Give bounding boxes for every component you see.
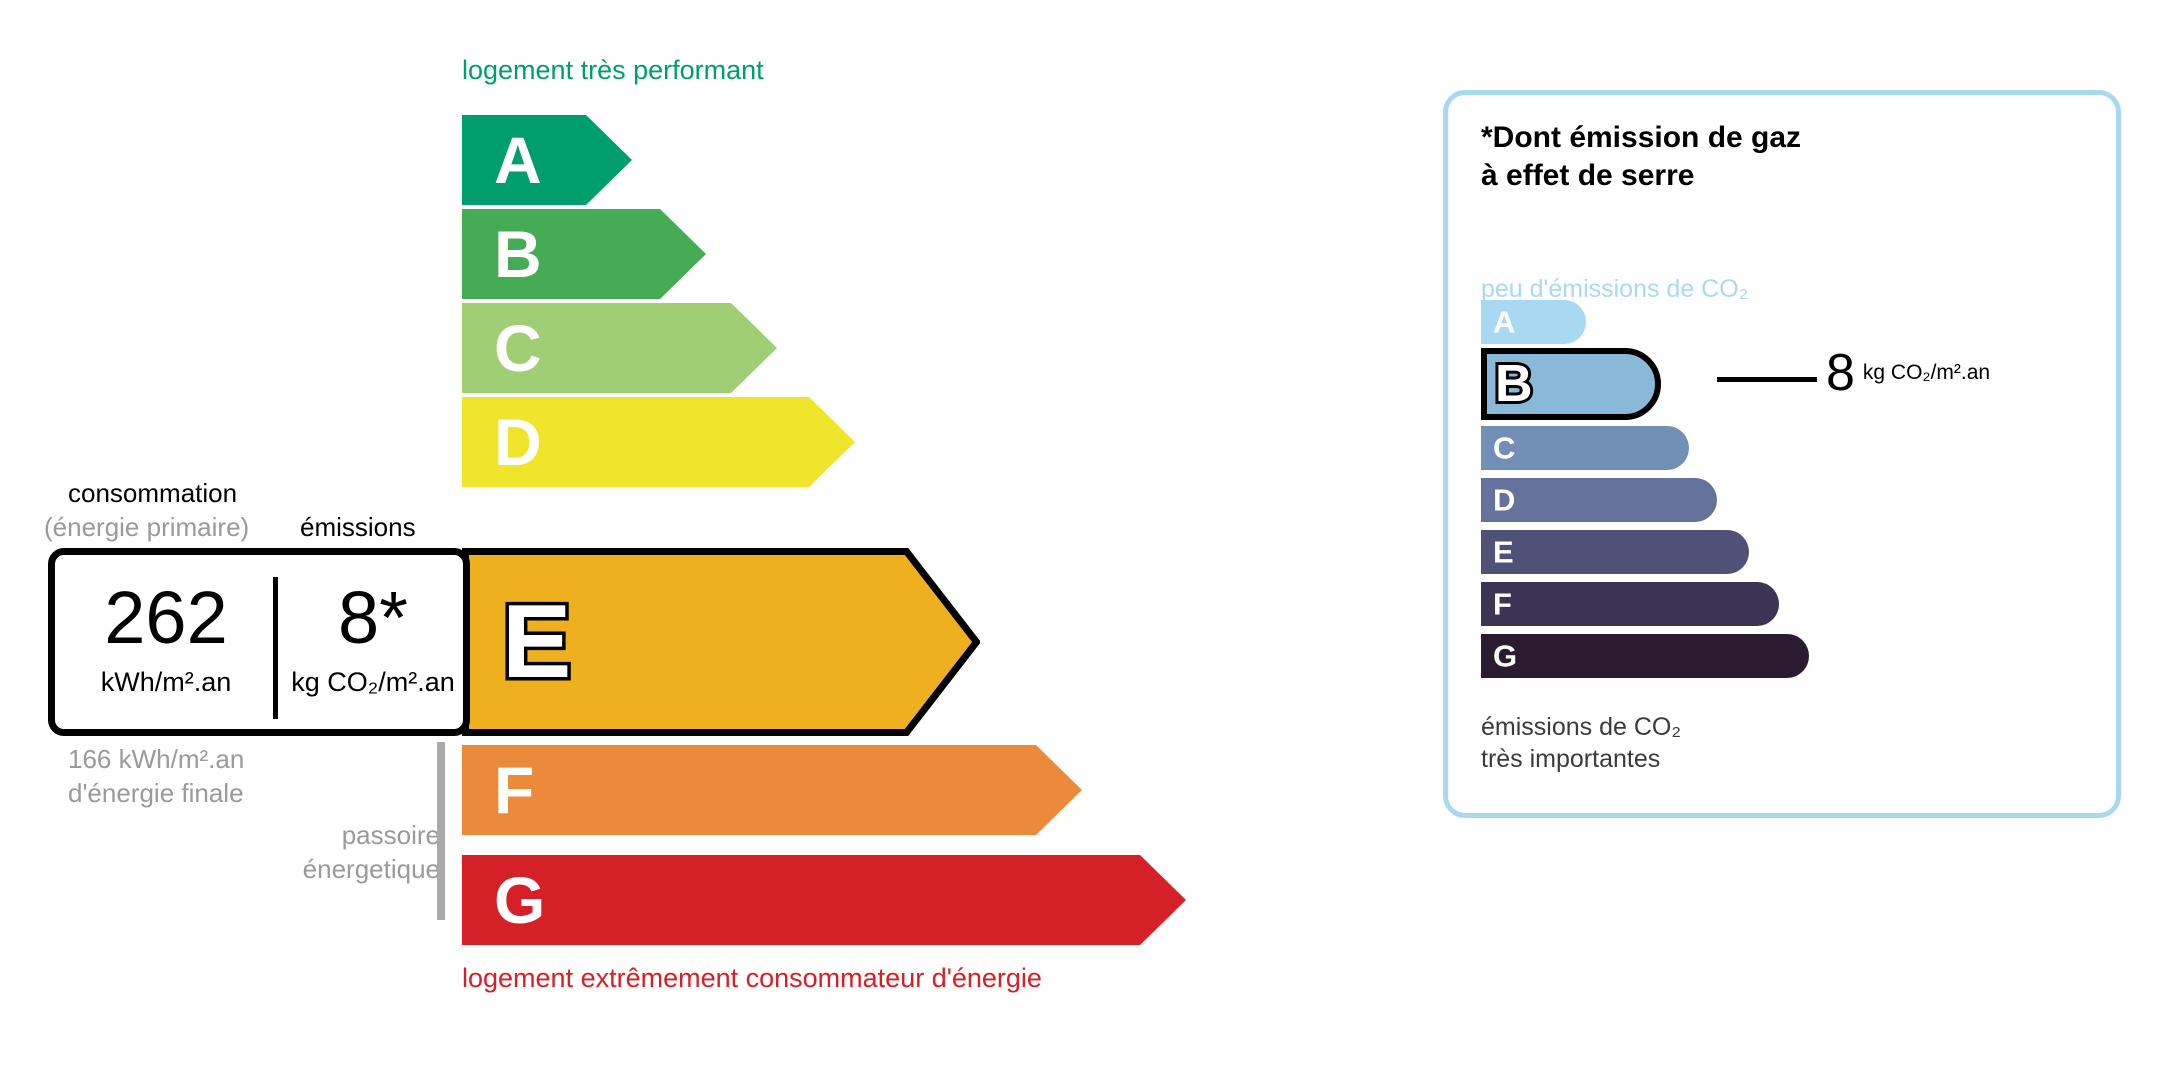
energy-bottom-caption: logement extrêmement consommateur d'éner… [462,963,1042,994]
emission-number: 8* [279,583,467,653]
co2-bottom-line-1: émissions de CO₂ [1481,711,1681,743]
energy-band-g: G [462,855,1186,945]
co2-bar-f: F [1481,582,1779,626]
energy-band-letter-c: C [494,315,542,381]
co2-bar-letter-c: C [1493,433,1515,464]
co2-bar-a: A [1481,300,1586,344]
co2-bar-letter-e: E [1493,537,1514,568]
energy-band-letter-b: B [494,221,542,287]
emission-value-cell: 8* kg CO₂/m².an [279,583,467,698]
energy-band-shape-f [462,745,1082,835]
co2-bar-fill-g [1481,634,1809,678]
energy-band-letter-a: A [494,127,542,193]
consumption-number: 262 [61,583,271,653]
co2-bar-fill-e [1481,530,1749,574]
co2-value-callout: 8kg CO₂/m².an [1826,343,1990,403]
co2-emissions-panel: *Dont émission de gaz à effet de serre p… [1443,90,2121,818]
co2-value-number: 8 [1826,344,1855,402]
energy-band-letter-g: G [494,867,545,933]
energy-band-letter-e: E [502,590,571,694]
label-emissions: émissions [300,512,416,543]
emission-unit: kg CO₂/m².an [279,667,467,698]
energy-performance-panel: logement très performant ABCDEFG consomm… [0,0,1380,1079]
final-energy-line-1: 166 kWh/m².an [68,742,244,776]
co2-bar-letter-f: F [1493,589,1512,620]
passoire-energetique-note: passoire énergetique [280,818,440,887]
consumption-value-cell: 262 kWh/m².an [61,583,271,698]
energy-band-f: F [462,745,1082,835]
label-energie-primaire: (énergie primaire) [44,512,249,543]
co2-bar-letter-b: B [1495,358,1533,410]
co2-title-line-1: *Dont émission de gaz [1481,119,1801,157]
energy-top-caption: logement très performant [462,55,764,86]
co2-bar-fill-d [1481,478,1717,522]
energy-band-letter-f: F [494,757,534,823]
energy-band-a: A [462,115,632,205]
final-energy-note: 166 kWh/m².an d'énergie finale [68,742,244,811]
co2-value-unit: kg CO₂/m².an [1863,361,1990,384]
energy-band-shape-a [462,115,632,205]
energy-band-b: B [462,209,706,299]
energy-band-d: D [462,397,855,487]
value-box-divider [273,577,278,719]
energy-band-shape-g [462,855,1186,945]
co2-panel-title: *Dont émission de gaz à effet de serre [1481,119,1801,196]
co2-bar-letter-a: A [1493,307,1515,338]
energy-band-c: C [462,303,777,393]
co2-bar-letter-d: D [1493,485,1515,516]
co2-bottom-caption: émissions de CO₂ très importantes [1481,711,1681,775]
co2-bottom-line-2: très importantes [1481,743,1681,775]
co2-bar-g: G [1481,634,1809,678]
co2-bar-fill-f [1481,582,1779,626]
co2-bar-e: E [1481,530,1749,574]
label-consommation: consommation [68,478,237,509]
co2-leader-line [1717,377,1817,382]
co2-title-line-2: à effet de serre [1481,157,1801,195]
energy-band-e: E [462,548,980,736]
final-energy-line-2: d'énergie finale [68,776,244,810]
co2-bar-c: C [1481,426,1689,470]
energy-band-letter-d: D [494,409,542,475]
co2-bar-d: D [1481,478,1717,522]
co2-bar-b: B [1481,348,1661,420]
passoire-vertical-rule [437,742,445,920]
passoire-line-1: passoire [280,818,440,852]
consumption-unit: kWh/m².an [61,667,271,698]
co2-bar-letter-g: G [1493,641,1517,672]
passoire-line-2: énergetique [280,852,440,886]
energy-value-box: 262 kWh/m².an 8* kg CO₂/m².an [48,548,470,736]
